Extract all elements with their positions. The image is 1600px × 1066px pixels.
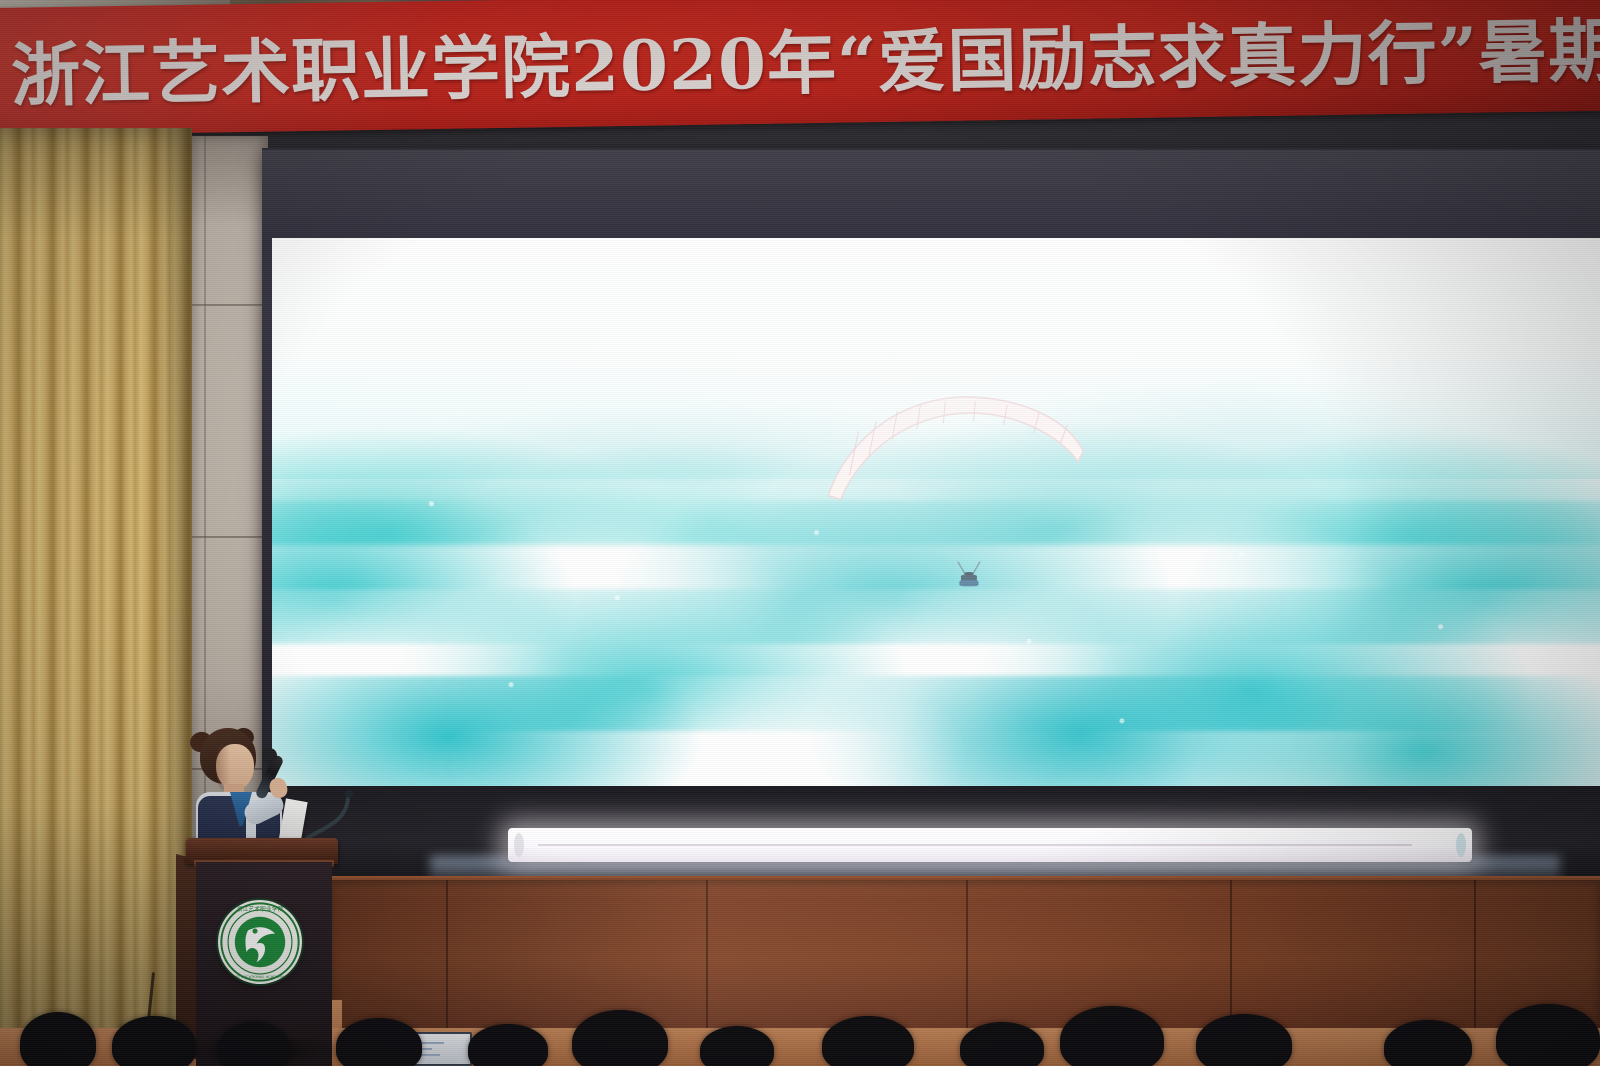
projection-screen: [272, 238, 1600, 786]
lectern: 浙江艺术职业学院 ZHEJIANG VOCATIONAL ACADEMY OF …: [176, 838, 348, 1066]
academy-emblem-icon: 浙江艺术职业学院 ZHEJIANG VOCATIONAL ACADEMY OF …: [218, 900, 302, 984]
stage-curtain-left: [0, 128, 192, 1066]
lectern-shadow: [182, 1038, 342, 1066]
light-bar-endcap-right: [1456, 833, 1466, 857]
event-banner-text: 浙江艺术职业学院2020年“爱国励志求真力行”暑期社会实践: [10, 0, 1600, 120]
event-banner: 浙江艺术职业学院2020年“爱国励志求真力行”暑期社会实践: [0, 0, 1600, 136]
student-speaker: [178, 726, 308, 856]
screen-frame-sheen: [262, 150, 1600, 238]
paraglider-canopy-icon: [823, 391, 1089, 512]
light-bar-endcap-left: [514, 833, 524, 857]
stage-front-panels: [330, 880, 1600, 1040]
auditorium-photo: 浙江艺术职业学院2020年“爱国励志求真力行”暑期社会实践: [0, 0, 1600, 1066]
paraglider-pilot-icon: [953, 561, 985, 591]
stage-light-bar: [508, 828, 1472, 862]
light-bar-seam: [538, 844, 1412, 846]
svg-text:浙江艺术职业学院: 浙江艺术职业学院: [237, 905, 284, 913]
